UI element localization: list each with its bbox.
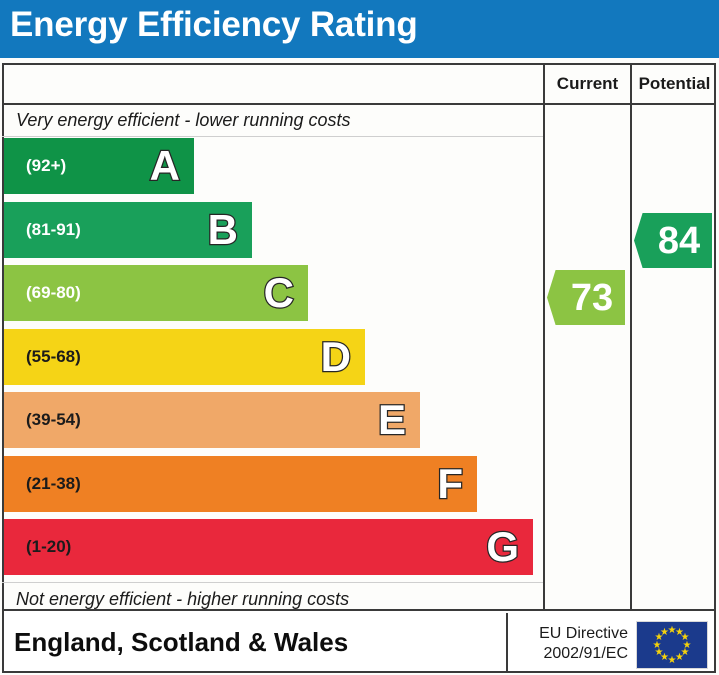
column-header-current: Current — [545, 74, 630, 94]
potential-rating-value: 84 — [634, 222, 712, 260]
eu-directive-label: EU Directive 2002/91/EC — [514, 624, 628, 664]
band-letter-b: B — [208, 209, 238, 251]
eu-flag-star: ★ — [660, 628, 669, 637]
energy-efficiency-rating-chart: Energy Efficiency Rating Current Potenti… — [0, 0, 719, 675]
column-divider-current — [543, 63, 545, 611]
band-letter-e: E — [378, 399, 406, 441]
footer-divider — [506, 613, 508, 673]
band-range-g: (1-20) — [26, 537, 71, 557]
band-bar-b: (81-91)B — [4, 202, 252, 258]
potential-rating-arrow: 84 — [634, 213, 712, 268]
eu-directive-line2: 2002/91/EC — [514, 644, 628, 664]
band-bar-a: (92+)A — [4, 138, 194, 194]
band-bar-c: (69-80)C — [4, 265, 308, 321]
band-letter-g: G — [486, 526, 519, 568]
header-banner: Energy Efficiency Rating — [0, 0, 719, 58]
band-range-d: (55-68) — [26, 347, 81, 367]
band-letter-f: F — [437, 463, 463, 505]
band-letter-d: D — [321, 336, 351, 378]
page-title: Energy Efficiency Rating — [10, 5, 418, 45]
current-rating-arrow: 73 — [547, 270, 625, 325]
eu-flag-icon: ★★★★★★★★★★★★ — [636, 621, 708, 669]
eu-directive-line1: EU Directive — [514, 624, 628, 644]
caption-inefficient: Not energy efficient - higher running co… — [16, 589, 349, 610]
band-bar-g: (1-20)G — [4, 519, 533, 575]
band-range-c: (69-80) — [26, 283, 81, 303]
footer-region-label: England, Scotland & Wales — [14, 627, 348, 658]
column-divider-potential — [630, 63, 632, 611]
band-bar-d: (55-68)D — [4, 329, 365, 385]
current-rating-value: 73 — [547, 279, 625, 317]
band-range-b: (81-91) — [26, 220, 81, 240]
header-row-divider — [2, 103, 716, 105]
band-bar-f: (21-38)F — [4, 456, 477, 512]
caption-top-rule — [2, 136, 543, 137]
band-bar-e: (39-54)E — [4, 392, 420, 448]
caption-efficient: Very energy efficient - lower running co… — [16, 110, 351, 131]
band-range-f: (21-38) — [26, 474, 81, 494]
band-letter-a: A — [150, 145, 180, 187]
band-range-a: (92+) — [26, 156, 66, 176]
column-header-potential: Potential — [632, 74, 717, 94]
band-range-e: (39-54) — [26, 410, 81, 430]
band-letter-c: C — [264, 272, 294, 314]
caption-bottom-rule — [2, 582, 543, 583]
